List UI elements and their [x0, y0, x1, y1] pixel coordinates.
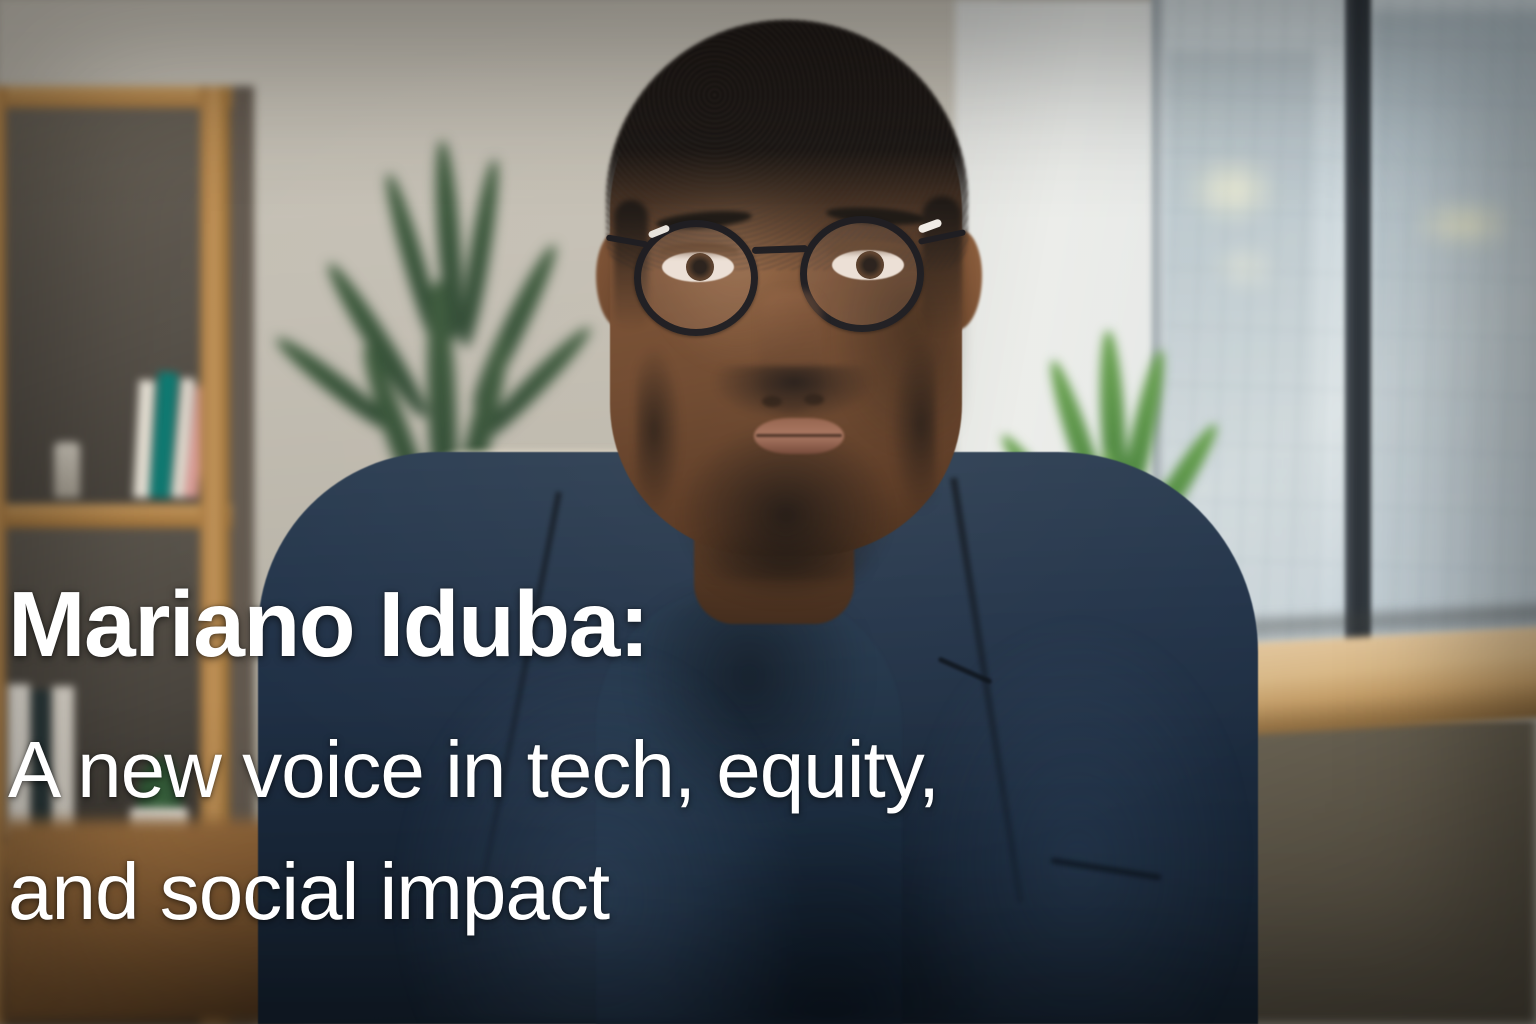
subtitle-line-2: and social impact [8, 852, 609, 932]
subtitle-line-1: A new voice in tech, equity, [8, 730, 939, 810]
headline-title: Mariano Iduba: [8, 578, 648, 671]
portrait-banner-image: Mariano Iduba: A new voice in tech, equi… [0, 0, 1536, 1024]
text-overlay: Mariano Iduba: A new voice in tech, equi… [0, 0, 1536, 1024]
